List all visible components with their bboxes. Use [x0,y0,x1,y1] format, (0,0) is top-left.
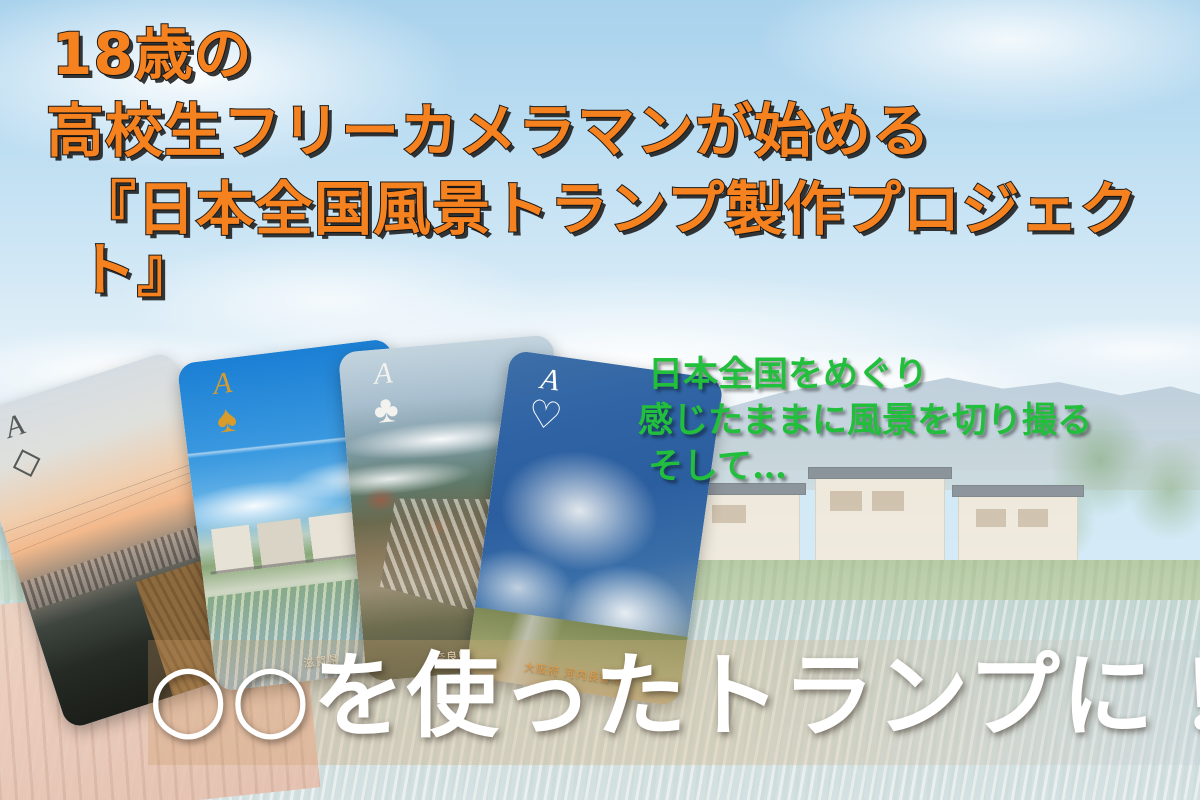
tagline-line-2: 感じたままに風景を切り撮る [638,398,1188,444]
tagline: 日本全国をめぐり 感じたままに風景を切り撮る そして… [648,352,1188,491]
tagline-line-1: 日本全国をめぐり [648,352,1188,398]
headline-line-3: 『日本全国風景トランプ製作プロジェクト』 [0,179,1200,302]
tagline-line-3: そして… [648,444,1188,490]
headline: 18歳の 高校生フリーカメラマンが始める 『日本全国風景トランプ製作プロジェクト… [0,24,1200,302]
headline-line-1: 18歳の [0,24,1200,85]
poster-root: A ◇ A ♠ 滋賀県 A ♣ 奈良県 吉野山 [0,0,1200,800]
bottom-catchphrase: ○○を使ったトランプに！ [148,648,1200,745]
headline-line-2: 高校生フリーカメラマンが始める [0,101,1200,162]
